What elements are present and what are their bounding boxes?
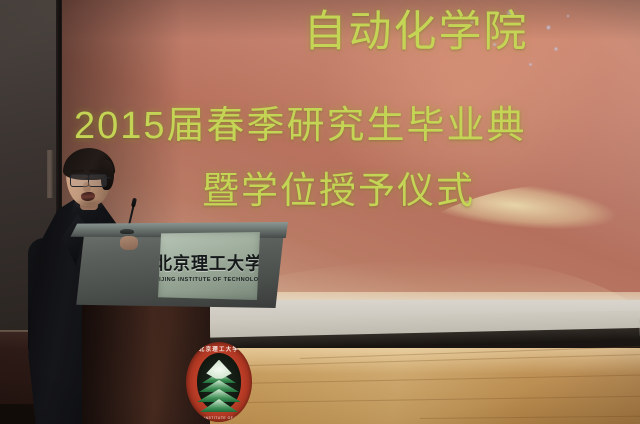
glasses-bridge [86,178,90,179]
emblem-english-text: BEIJING INSTITUTE OF TECHNOLOGY [186,416,252,420]
lectern-nameplate: 北京理工大学 BEIJING INSTITUTE OF TECHNOLOGY [158,232,260,300]
nameplate-english-text: BEIJING INSTITUTE OF TECHNOLOGY [150,277,267,283]
speaker-nose [83,182,91,192]
microphone-base [120,229,134,234]
slide-title-line-3: 暨学位授予仪式 [202,168,475,214]
emblem-chinese-text: 北京理工大学 [186,345,252,353]
bit-emblem: 北京理工大学 BEIJING INSTITUTE OF TECHNOLOGY [186,342,252,422]
nameplate-chinese-text: 北京理工大学 [155,248,263,274]
speaker-chin-shadow [72,198,106,210]
presentation-photo: 自动化学院 2015届春季研究生毕业典 暨学位授予仪式 北京理工大学 [0,0,640,424]
slide-title-line-1: 自动化学院 [62,6,640,60]
wall-trim [47,150,53,198]
speaker-hand [120,236,138,250]
slide-title-line-2: 2015届春季研究生毕业典 [74,103,527,151]
